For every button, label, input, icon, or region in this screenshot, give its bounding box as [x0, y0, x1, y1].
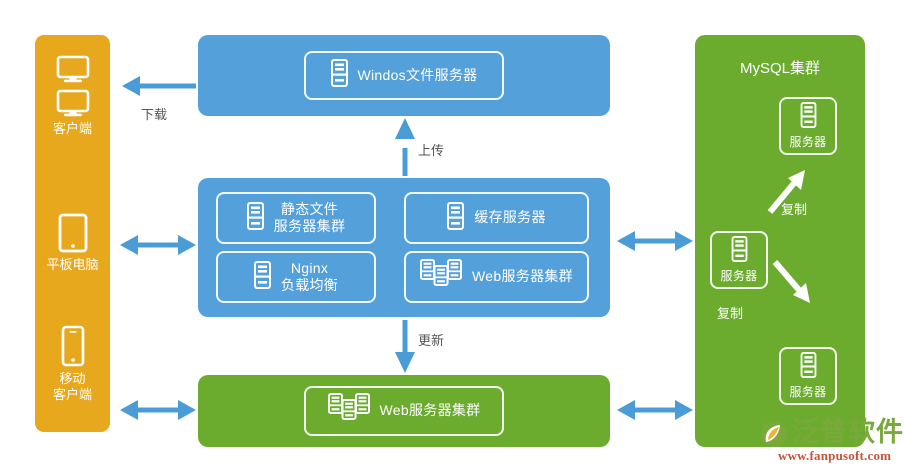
arrow-update — [395, 320, 415, 373]
card-static-file-cluster[interactable]: 静态文件 服务器集群 — [216, 192, 376, 244]
arrow-web-mysql — [617, 400, 693, 420]
card-label: 服务器 — [790, 135, 827, 150]
arrow-label-update: 更新 — [418, 330, 444, 349]
arrow-label-download: 下载 — [141, 104, 167, 123]
leaf-logo-icon — [760, 420, 790, 448]
client-rail-panel: 客户端 平板电脑 移动 客户端 — [35, 35, 110, 432]
arrow-client-web — [120, 400, 196, 420]
server-icon — [331, 59, 348, 92]
card-label: 服务器 — [790, 385, 827, 400]
replication-label-up: 复制 — [781, 199, 807, 218]
server-cluster-icon — [420, 259, 462, 296]
card-web-server-cluster-bottom[interactable]: Web服务器集群 — [304, 386, 504, 436]
server-icon — [800, 352, 817, 383]
card-label: 缓存服务器 — [474, 209, 546, 227]
card-label: Web服务器集群 — [472, 268, 573, 286]
card-label: Web服务器集群 — [380, 402, 481, 420]
watermark-url: www.fanpusoft.com — [778, 448, 891, 464]
card-label: 静态文件 服务器集群 — [274, 201, 346, 236]
server-icon — [447, 202, 464, 235]
monitor-icon — [35, 89, 110, 117]
server-cluster-icon — [328, 393, 370, 430]
web-tier-panel: Web服务器集群 — [198, 375, 610, 447]
arrow-label-upload: 上传 — [418, 140, 444, 159]
mysql-cluster-panel: MySQL集群 服务器 — [695, 35, 865, 447]
smartphone-icon — [35, 325, 110, 367]
mysql-cluster-title: MySQL集群 — [695, 57, 865, 78]
arrow-app-mysql — [617, 231, 693, 251]
tablet-icon — [35, 213, 110, 253]
card-windows-file-server[interactable]: Windos文件服务器 — [304, 51, 504, 100]
replication-label-down: 复制 — [717, 303, 743, 322]
server-icon — [800, 102, 817, 133]
file-server-panel: Windos文件服务器 — [198, 35, 610, 116]
app-tier-panel: 静态文件 服务器集群 缓存服务器 — [198, 178, 610, 317]
watermark: 泛普软件 www.fanpusoft.com — [760, 418, 904, 467]
arrow-upload — [395, 118, 415, 176]
rail-item-label: 客户端 — [35, 121, 110, 137]
arrow-download — [122, 76, 196, 96]
card-mysql-master[interactable]: 服务器 — [710, 231, 768, 289]
watermark-brand: 泛普软件 — [792, 418, 904, 448]
server-icon — [731, 236, 748, 267]
rail-item-label: 平板电脑 — [35, 257, 110, 273]
architecture-diagram: 客户端 平板电脑 移动 客户端 — [0, 0, 904, 467]
rail-item-label: 移动 客户端 — [35, 371, 110, 404]
card-label: Windos文件服务器 — [358, 67, 478, 85]
rail-item-tablet[interactable]: 平板电脑 — [35, 213, 110, 273]
server-icon — [247, 202, 264, 235]
card-nginx-load-balancer[interactable]: Nginx 负载均衡 — [216, 251, 376, 303]
rail-item-desktop-clients[interactable]: 客户端 — [35, 55, 110, 137]
card-label: Nginx 负载均衡 — [281, 260, 338, 295]
server-icon — [254, 261, 271, 294]
card-label: 服务器 — [721, 269, 758, 284]
rail-item-mobile-client[interactable]: 移动 客户端 — [35, 325, 110, 404]
card-web-server-cluster[interactable]: Web服务器集群 — [404, 251, 589, 303]
card-mysql-slave-top[interactable]: 服务器 — [779, 97, 837, 155]
arrow-client-app — [120, 235, 196, 255]
monitor-icon — [35, 55, 110, 83]
card-mysql-slave-bottom[interactable]: 服务器 — [779, 347, 837, 405]
card-cache-server[interactable]: 缓存服务器 — [404, 192, 589, 244]
